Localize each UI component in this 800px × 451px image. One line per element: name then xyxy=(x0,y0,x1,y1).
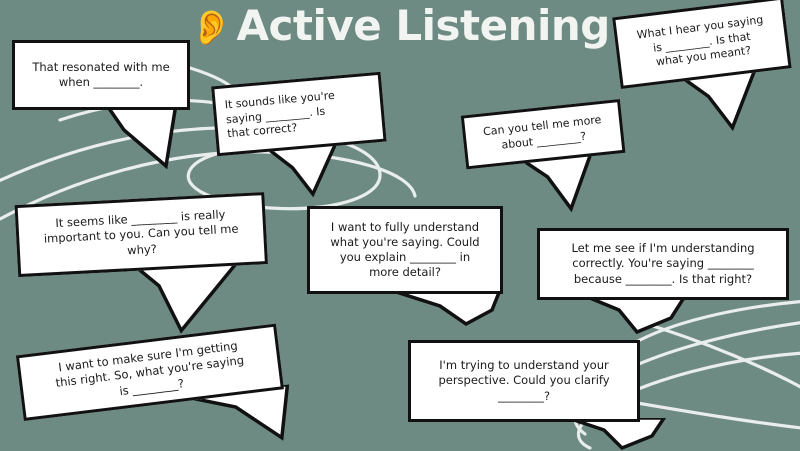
bubble-tail-let-me-see xyxy=(575,296,715,338)
bubble-text: I want to fully understand what you're s… xyxy=(319,220,491,281)
bubble-tail-resonated xyxy=(6,104,186,174)
page-title-text: Active Listening xyxy=(237,4,610,48)
bubble-it-sounds-like[interactable]: It sounds like you're saying ________. I… xyxy=(211,72,386,157)
ear-icon: 👂 xyxy=(190,11,232,45)
bubble-text: It sounds like you're saying ________. I… xyxy=(224,86,373,142)
bubble-group-what-i-hear: What I hear you saying is ________. Is t… xyxy=(612,0,800,156)
bubble-text: Let me see if I'm understanding correctl… xyxy=(549,241,777,287)
bubble-tail-fully-understand xyxy=(380,290,520,330)
bubble-i-want-to-fully-understand[interactable]: I want to fully understand what you're s… xyxy=(307,206,503,294)
bubble-it-seems-like-important[interactable]: It seems like ________ is really importa… xyxy=(15,192,268,277)
bubble-tail-perspective xyxy=(560,418,680,451)
bubble-text: Can you tell me more about ________? xyxy=(474,113,612,156)
bubble-let-me-see-if-understanding[interactable]: Let me see if I'm understanding correctl… xyxy=(537,228,789,300)
bubble-text: It seems like ________ is really importa… xyxy=(27,206,255,263)
bubble-that-resonated-with-me[interactable]: That resonated with me when ________. xyxy=(12,40,190,110)
bubble-im-trying-to-understand-perspective[interactable]: I'm trying to understand your perspectiv… xyxy=(408,340,640,422)
bubble-text: I'm trying to understand your perspectiv… xyxy=(420,358,628,404)
bubble-text: That resonated with me when ________. xyxy=(24,60,178,90)
bubble-text: What I hear you saying is ________. Is t… xyxy=(626,12,778,73)
active-listening-poster: 👂 Active Listening That resonated with m… xyxy=(0,0,800,451)
bubble-group-it-seems-like: It seems like ________ is really importa… xyxy=(15,191,292,345)
bubble-group-it-sounds-like: It sounds like you're saying ________. I… xyxy=(211,70,411,206)
